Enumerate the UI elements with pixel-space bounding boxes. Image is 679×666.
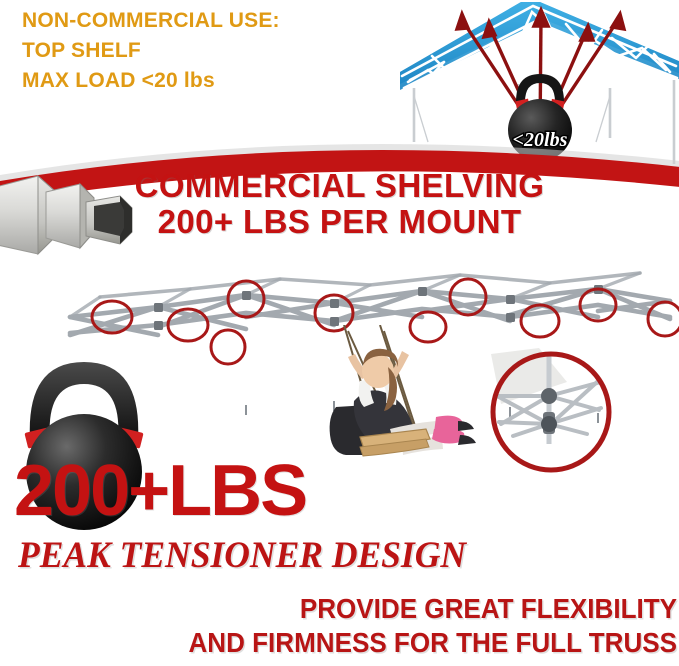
child-on-swing [318,325,503,470]
warning-text-block: NON-COMMERCIAL USE: TOP SHELF MAX LOAD <… [22,6,362,96]
bottom-line-2: AND FIRMNESS FOR THE FULL TRUSS [46,626,677,660]
warning-line-2: TOP SHELF [22,36,362,66]
headline-line-1: COMMERCIAL SHELVING [0,168,679,203]
infographic-canvas: NON-COMMERCIAL USE: TOP SHELF MAX LOAD <… [0,0,679,666]
load-callout-200lbs: 200+LBS [14,455,306,527]
peak-tensioner-detail [483,348,623,478]
bottom-text-block: PROVIDE GREAT FLEXIBILITY AND FIRMNESS F… [0,592,677,660]
peak-tensioner-headline: PEAK TENSIONER DESIGN [18,536,466,576]
bottom-line-1: PROVIDE GREAT FLEXIBILITY [46,592,677,626]
upper-hub [541,388,557,404]
warning-line-1: NON-COMMERCIAL USE: [22,6,362,36]
headline-block: COMMERCIAL SHELVING 200+ LBS PER MOUNT [0,168,679,241]
warning-line-3: MAX LOAD <20 lbs [22,66,362,96]
shoe-sole [458,421,474,431]
headline-line-2: 200+ LBS PER MOUNT [0,203,679,241]
